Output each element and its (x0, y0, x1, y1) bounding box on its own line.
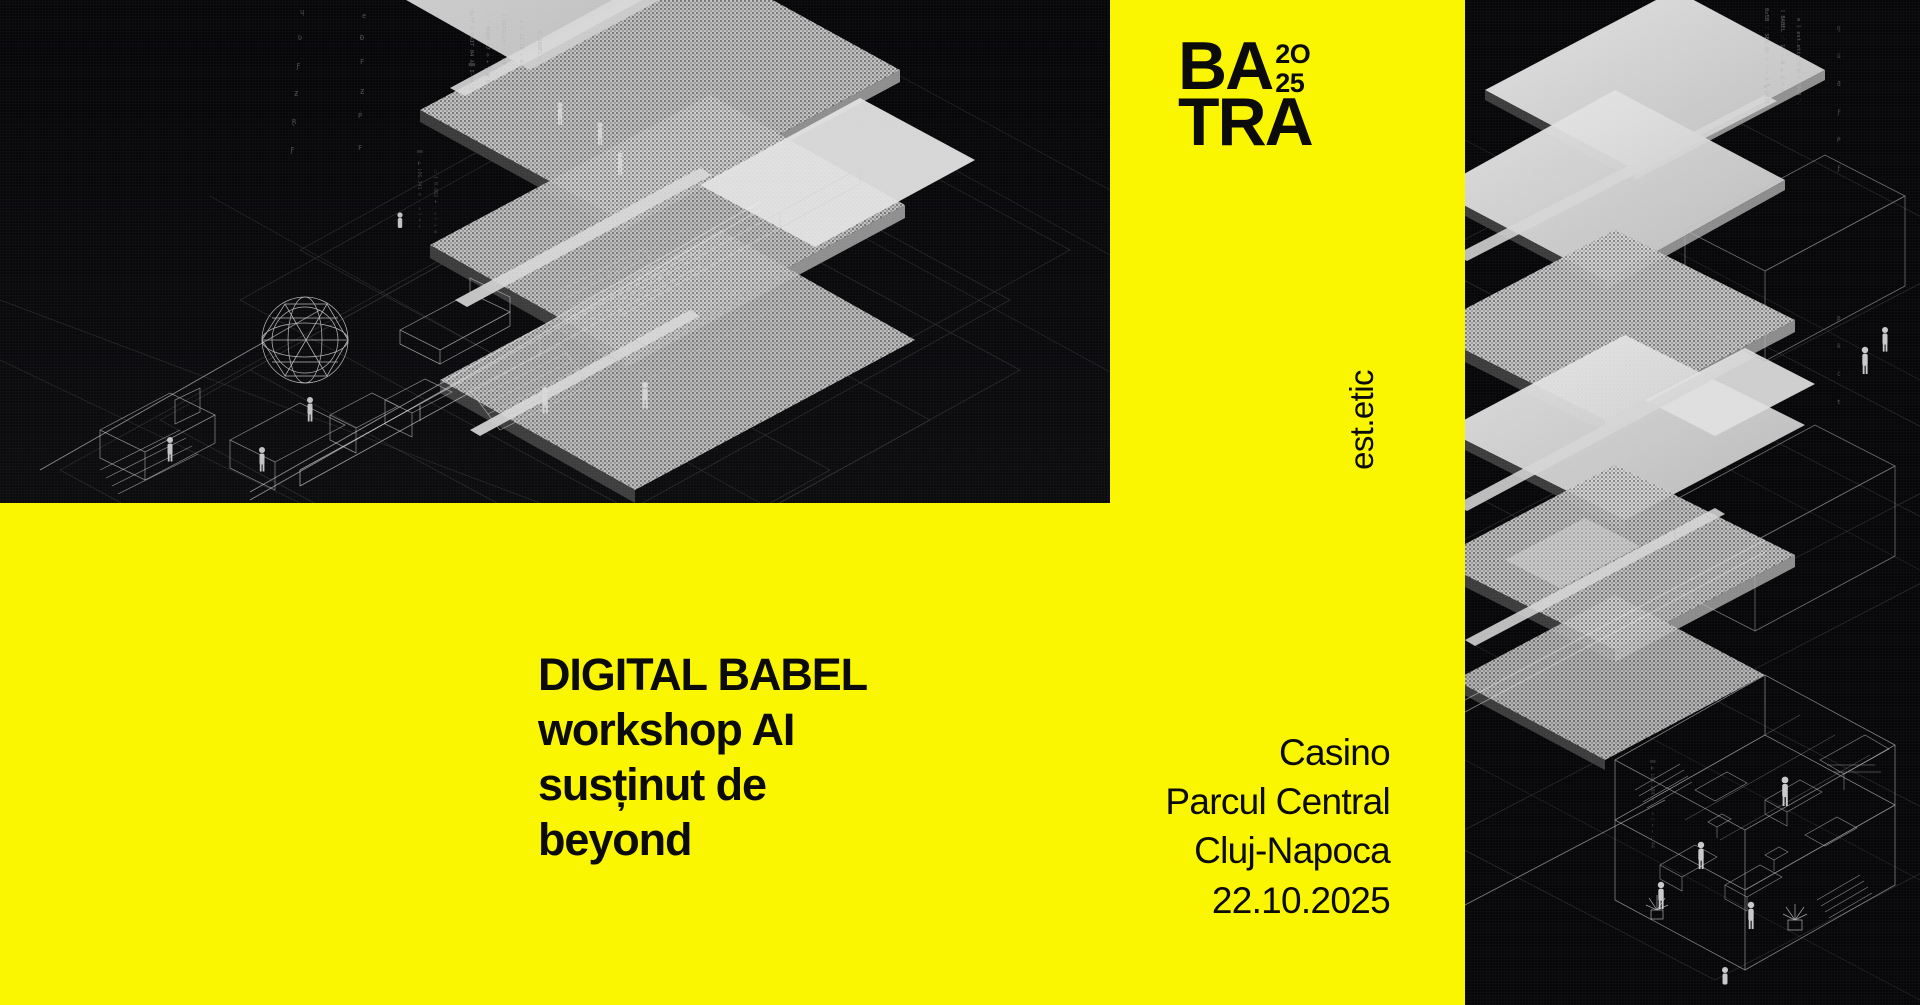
artwork-left: eƉF ƵṖF ųƲƑ ƵⱤƑ 0x7F ≡ CRIT 04 λ▒ Σ-04 ∴… (0, 0, 1110, 503)
isometric-illustration-left-svg: eƉF ƵṖF ųƲƑ ƵⱤƑ 0x7F ≡ CRIT 04 λ▒ Σ-04 ∴… (0, 0, 1110, 503)
svg-text:Ṗ: Ṗ (1837, 137, 1841, 144)
headline-line-3: susținut de (538, 758, 867, 813)
headline-line-2: workshop AI (538, 703, 867, 758)
venue-line-1: Casino (1165, 728, 1390, 777)
svg-text:▒ ⟁ LOG.204 ⟡ ⋰ ⊸ ᚱ ⟜ ⌁ ∷ 44: ▒ ⟁ LOG.204 ⟡ ⋰ ⊸ ᚱ ⟜ ⌁ ∷ 44 (1649, 760, 1656, 848)
venue-line-2: Parcul Central (1165, 777, 1390, 826)
venue-line-3: Cluj-Napoca (1165, 826, 1390, 875)
svg-text:Ƒ: Ƒ (1837, 109, 1841, 116)
batra-logo[interactable]: BA 2O 25 TRA (1178, 38, 1312, 151)
isometric-illustration-right-svg: ŋüƌ ƑṖƑ ƥƙċ ŧ 0x5B ⋮ SEQ.88 ⟐ ᚠ ⌁ ∆ ▚ 20… (1465, 0, 1920, 1005)
headline-line-1: DIGITAL BABEL (538, 648, 867, 703)
logo-line2: TRA (1178, 94, 1312, 151)
svg-text:0x5B ⋮ SEQ.88 ⟐ ᚠ ⌁ ∆ ▚ 2025: 0x5B ⋮ SEQ.88 ⟐ ᚠ ⌁ ∆ ▚ 2025 (1763, 8, 1771, 104)
svg-text:ü: ü (1837, 53, 1841, 60)
svg-text:≋ ᛝ est.etic ⟲ ⌸ ∷ 0913 ⋱: ≋ ᛝ est.etic ⟲ ⌸ ∷ 0913 ⋱ (1795, 18, 1802, 105)
venue-block: Casino Parcul Central Cluj-Napoca 22.10.… (1165, 728, 1390, 925)
venue-date: 22.10.2025 (1165, 876, 1390, 925)
svg-text:⟟ BABEL ⋰ 17 ⊹ ⧉ ⟁ β ⌖ ≡: ⟟ BABEL ⋰ 17 ⊹ ⧉ ⟁ β ⌖ ≡ (1779, 10, 1786, 93)
artwork-right: ŋüƌ ƑṖƑ ƥƙċ ŧ 0x5B ⋮ SEQ.88 ⟐ ᚠ ⌁ ∆ ▚ 20… (1465, 0, 1920, 1005)
svg-text:ƥ: ƥ (1837, 315, 1841, 322)
event-headline: DIGITAL BABEL workshop AI susținut de be… (538, 648, 867, 868)
svg-text:ƌ: ƌ (1837, 81, 1841, 88)
logo-year-top: 2O (1275, 40, 1310, 69)
svg-text:ŧ: ŧ (1837, 399, 1841, 406)
svg-text:Ƒ: Ƒ (1837, 165, 1841, 172)
est-etic-vertical-tag: est.etic (1343, 370, 1381, 470)
svg-text:ƙ: ƙ (1837, 343, 1841, 350)
svg-text:ŋ: ŋ (1837, 25, 1841, 32)
svg-text:ċ: ċ (1837, 371, 1841, 378)
poster-canvas: eƉF ƵṖF ųƲƑ ƵⱤƑ 0x7F ≡ CRIT 04 λ▒ Σ-04 ∴… (0, 0, 1920, 1005)
headline-line-4: beyond (538, 813, 867, 868)
